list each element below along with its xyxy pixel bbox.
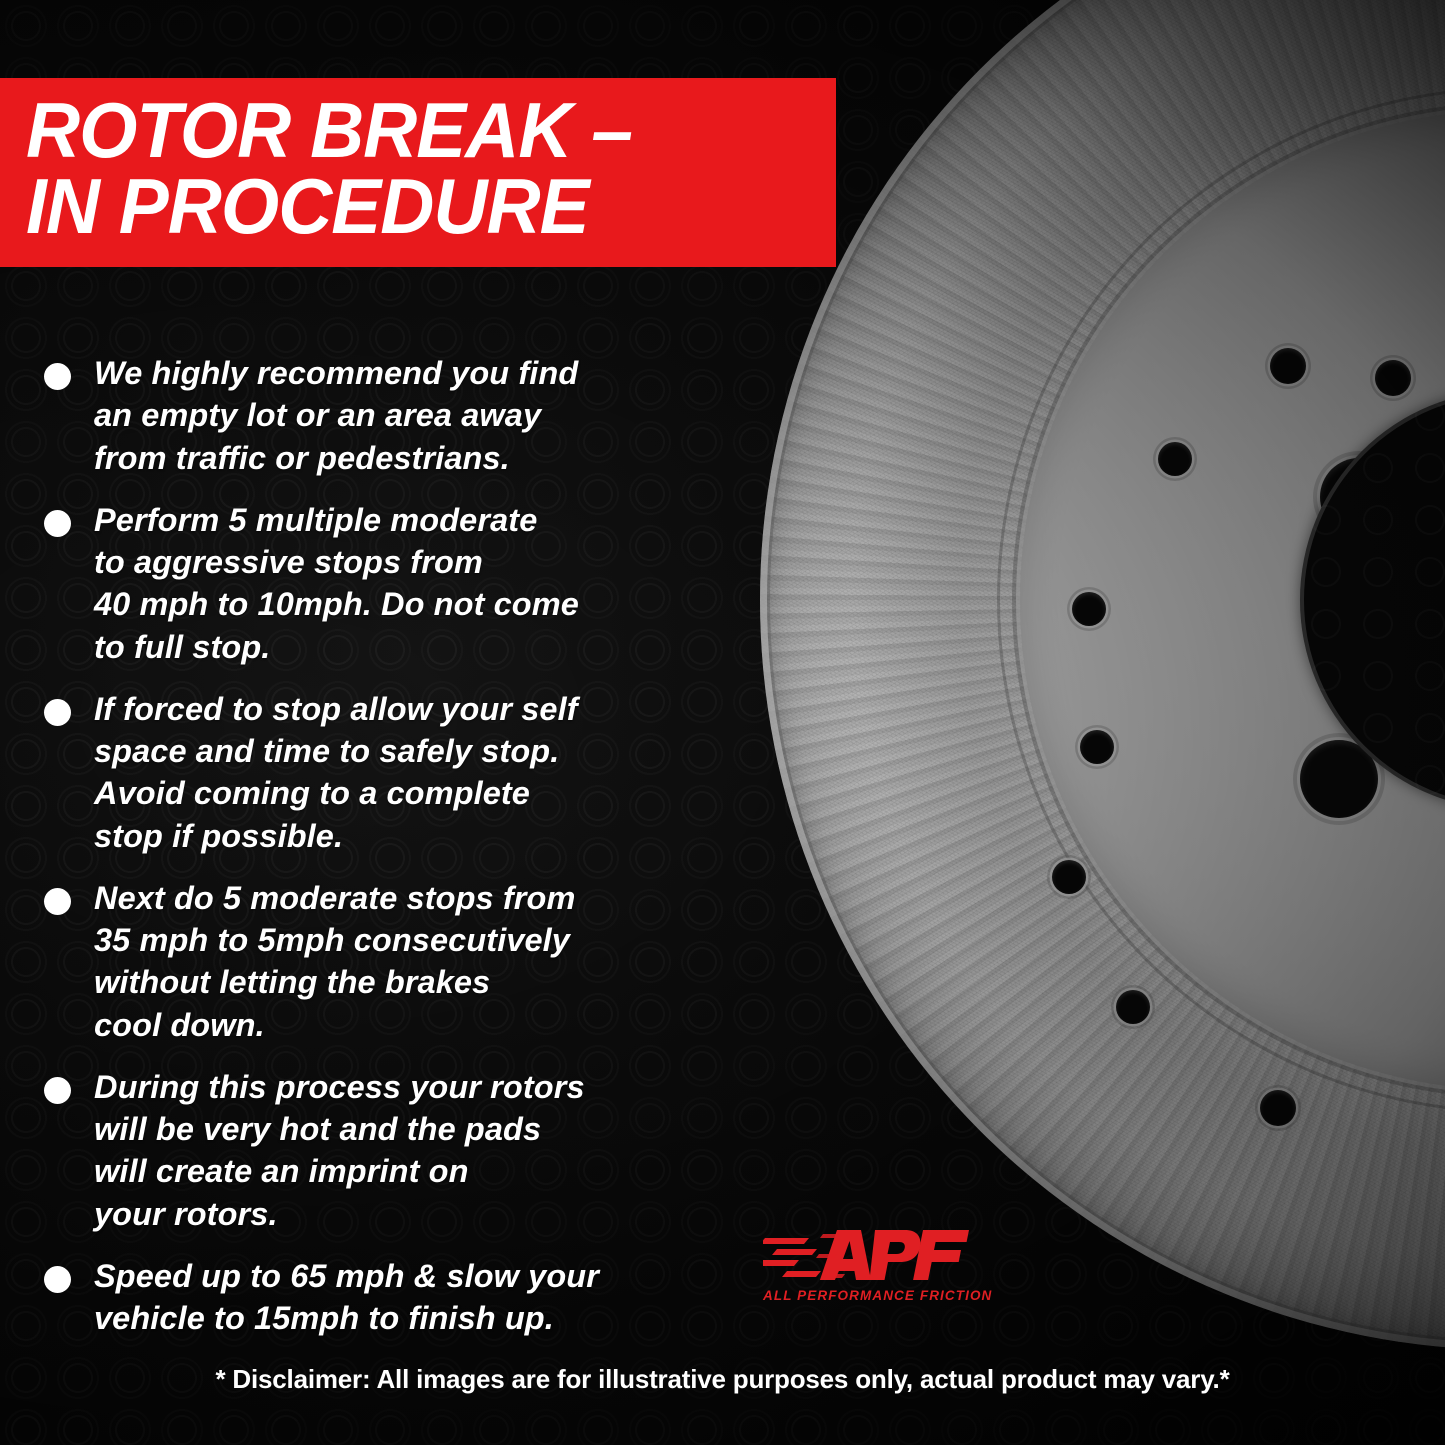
list-item-text: If forced to stop allow your self space … — [94, 688, 578, 857]
list-item: During this process your rotors will be … — [44, 1066, 764, 1235]
bullet-dot-icon — [44, 363, 71, 390]
rotor-outer-edge — [760, 0, 1445, 1350]
promo-graphic: ROTOR BREAK – IN PROCEDURE We highly rec… — [0, 0, 1445, 1445]
list-item-text: Perform 5 multiple moderate to aggressiv… — [94, 499, 579, 668]
apf-logo-tagline: ALL PERFORMANCE FRICTION — [763, 1288, 973, 1303]
title-line-2: IN PROCEDURE — [26, 168, 779, 244]
apf-logo-mark-icon — [763, 1224, 973, 1286]
list-item-text: Speed up to 65 mph & slow your vehicle t… — [94, 1255, 599, 1340]
title-line-1: ROTOR BREAK – — [26, 92, 779, 168]
disclaimer-text: * Disclaimer: All images are for illustr… — [0, 1364, 1445, 1395]
list-item-text: During this process your rotors will be … — [94, 1066, 585, 1235]
apf-logo: ALL PERFORMANCE FRICTION — [763, 1224, 973, 1303]
bullet-dot-icon — [44, 699, 71, 726]
list-item: We highly recommend you find an empty lo… — [44, 352, 764, 479]
bullet-dot-icon — [44, 888, 71, 915]
title-banner: ROTOR BREAK – IN PROCEDURE — [0, 78, 836, 267]
list-item-text: We highly recommend you find an empty lo… — [94, 352, 578, 479]
list-item: Speed up to 65 mph & slow your vehicle t… — [44, 1255, 764, 1340]
list-item: Next do 5 moderate stops from 35 mph to … — [44, 877, 764, 1046]
list-item: If forced to stop allow your self space … — [44, 688, 764, 857]
rotor-disc — [760, 0, 1445, 1350]
list-item-text: Next do 5 moderate stops from 35 mph to … — [94, 877, 575, 1046]
bullet-dot-icon — [44, 510, 71, 537]
bullet-dot-icon — [44, 1266, 71, 1293]
list-item: Perform 5 multiple moderate to aggressiv… — [44, 499, 764, 668]
bullet-dot-icon — [44, 1077, 71, 1104]
instruction-list: We highly recommend you find an empty lo… — [44, 352, 764, 1359]
